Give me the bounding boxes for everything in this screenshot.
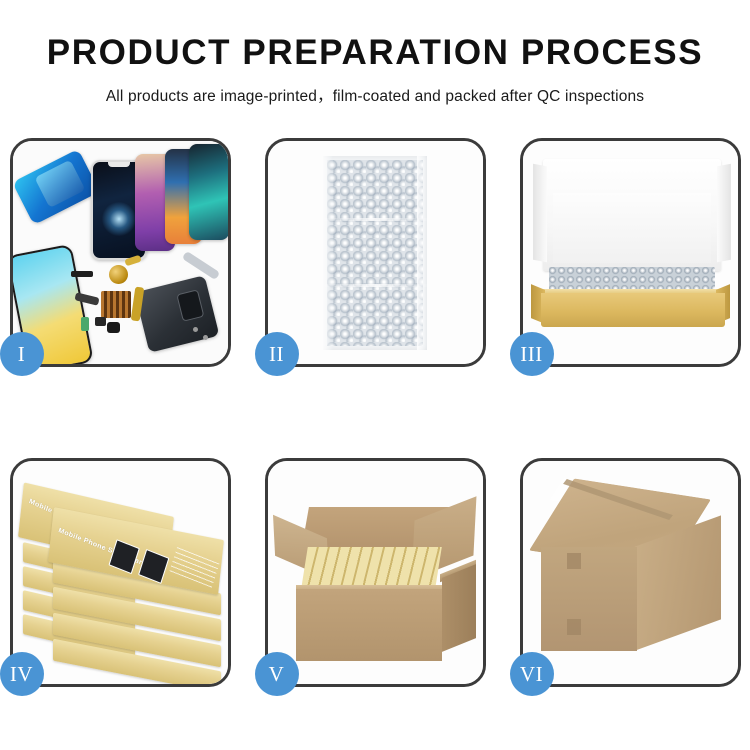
step-panel-1[interactable]: I	[10, 138, 231, 367]
step-badge-2: II	[255, 332, 299, 376]
step-panel-3[interactable]: III	[520, 138, 741, 367]
foam-sheet	[553, 193, 711, 263]
box-screen-graphic	[138, 549, 169, 584]
step-badge-4: IV	[0, 652, 44, 696]
page-header: PRODUCT PREPARATION PROCESS All products…	[0, 0, 750, 106]
carton-front-panel	[296, 589, 442, 661]
step-image-6	[523, 461, 738, 684]
process-step-grid: I II III	[0, 138, 750, 687]
bubble-wrap-seam	[323, 218, 427, 221]
bubble-wrap-package	[323, 156, 427, 350]
screw-part	[193, 327, 198, 332]
step-badge-3: III	[510, 332, 554, 376]
step-image-5	[268, 461, 483, 684]
battery-part	[81, 317, 89, 331]
inner-box-front	[541, 293, 725, 327]
step-image-3	[523, 141, 738, 364]
step-badge-5: V	[255, 652, 299, 696]
vibration-motor-part	[71, 271, 93, 277]
products-display-scene	[13, 141, 228, 364]
phone-back-cover	[134, 275, 219, 353]
speaker-part	[95, 317, 106, 326]
step-panel-6[interactable]: VI	[520, 458, 741, 687]
step-image-2	[268, 141, 483, 364]
bubble-wrap-right-edge	[417, 156, 427, 350]
screw-part	[203, 335, 208, 340]
step-panel-2[interactable]: II	[265, 138, 486, 367]
step-panel-5[interactable]: V	[265, 458, 486, 687]
logic-board-part	[101, 291, 131, 318]
bubble-wrap-left-edge	[323, 156, 333, 350]
carton-tab	[567, 619, 581, 635]
carton-tab	[567, 553, 581, 569]
carton-front-panel	[541, 547, 637, 651]
step-image-1	[13, 141, 228, 364]
phone-adhesive-film	[13, 149, 100, 225]
bubble-wrap-seam	[323, 284, 427, 287]
bubble-wrap-texture	[327, 160, 423, 346]
step-image-4: Mobile Phone Spare Parts Mobile Phone Sp…	[13, 461, 228, 684]
box-screen-graphic	[108, 539, 139, 574]
kraft-box-stack: Mobile Phone Spare Parts Mobile Phone Sp…	[19, 479, 225, 673]
step-panel-4[interactable]: Mobile Phone Spare Parts Mobile Phone Sp…	[10, 458, 231, 687]
page-title: PRODUCT PREPARATION PROCESS	[0, 34, 750, 73]
carton-side-panel	[442, 564, 476, 652]
phone-teal	[189, 144, 228, 240]
step-badge-1: I	[0, 332, 44, 376]
camera-module-part	[107, 322, 120, 333]
wireless-charging-coil-part	[109, 265, 128, 284]
page-subtitle: All products are image-printed，film-coat…	[0, 84, 750, 106]
box-spec-lines	[169, 547, 219, 588]
step-badge-6: VI	[510, 652, 554, 696]
